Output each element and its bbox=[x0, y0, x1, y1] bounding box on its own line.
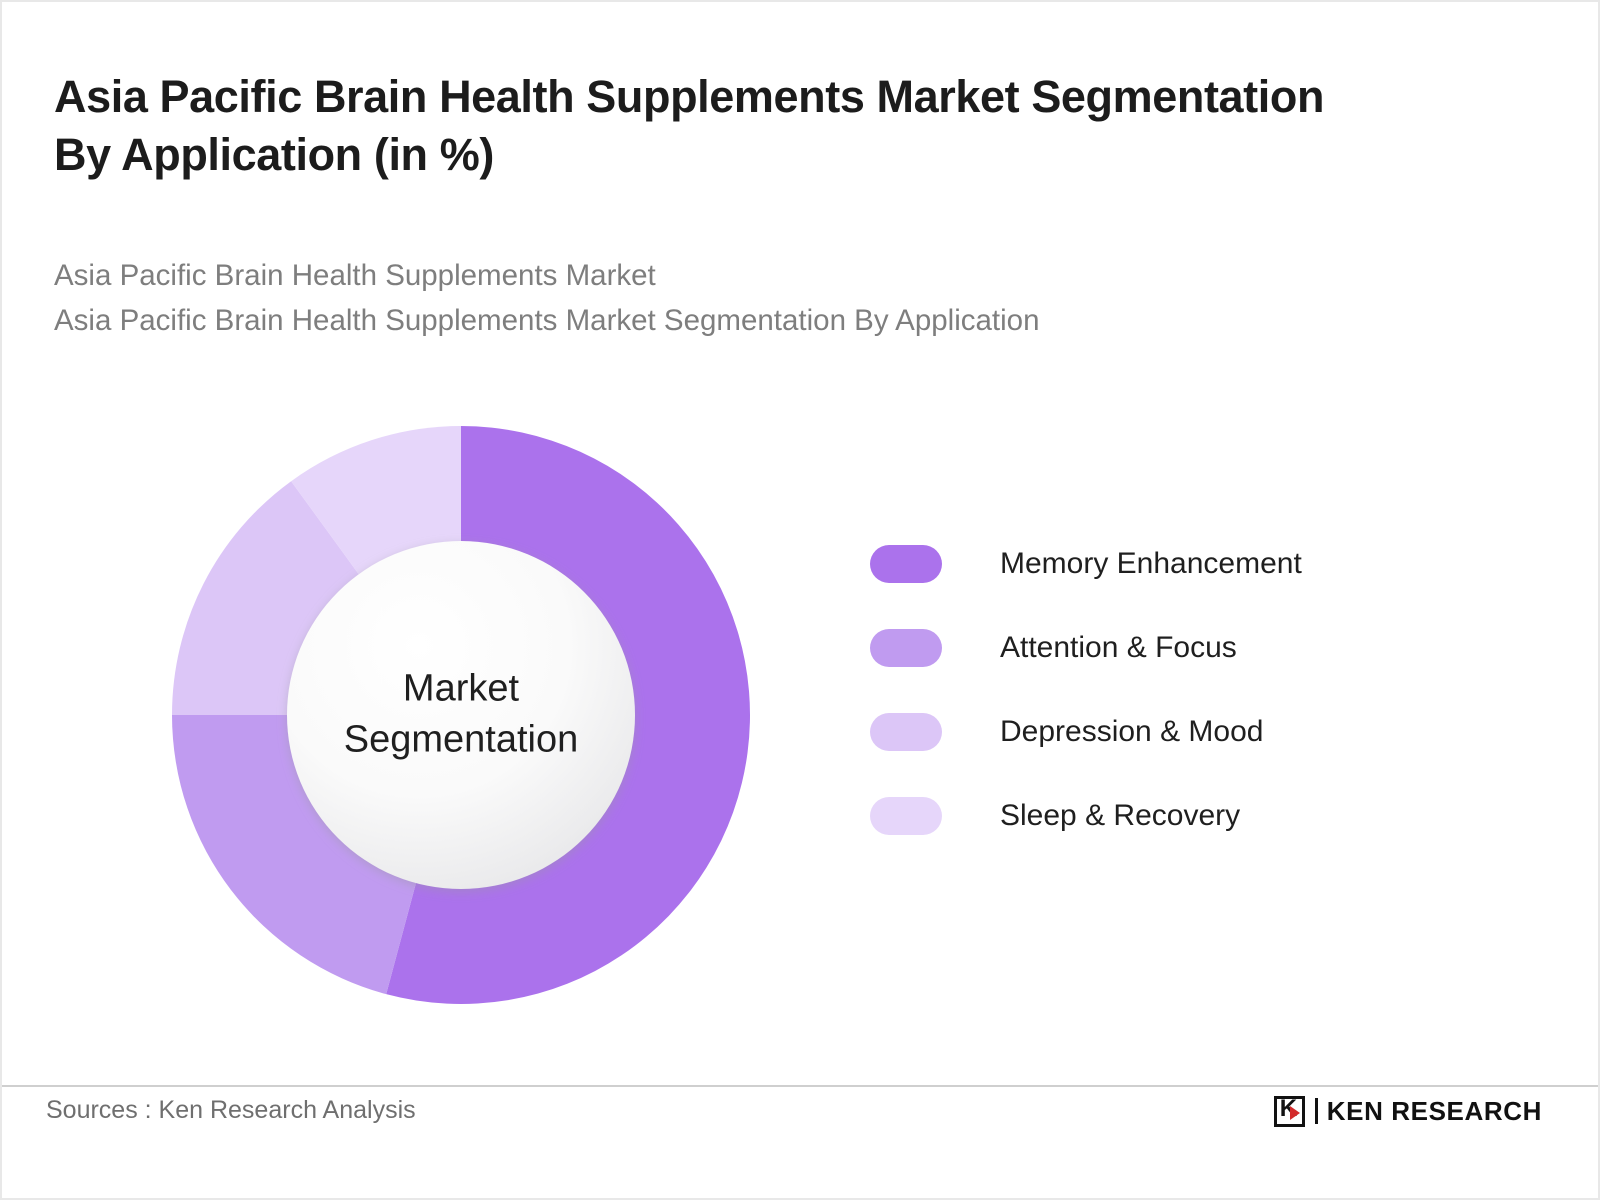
page-subtitle: Asia Pacific Brain Health Supplements Ma… bbox=[54, 254, 1504, 344]
sources-text: Sources : Ken Research Analysis bbox=[46, 1096, 416, 1125]
legend-item[interactable]: Attention & Focus bbox=[870, 606, 1302, 690]
logo-wordmark: KEN RESEARCH bbox=[1327, 1096, 1542, 1127]
logo-triangle-icon bbox=[1290, 1106, 1300, 1120]
chart-legend: Memory EnhancementAttention & FocusDepre… bbox=[870, 522, 1302, 858]
donut-hole bbox=[287, 541, 635, 889]
page-title: Asia Pacific Brain Health Supplements Ma… bbox=[54, 68, 1534, 183]
chart-area: Market Segmentation Memory EnhancementAt… bbox=[2, 382, 1600, 1062]
legend-item[interactable]: Sleep & Recovery bbox=[870, 774, 1302, 858]
legend-item[interactable]: Memory Enhancement bbox=[870, 522, 1302, 606]
logo-divider bbox=[1315, 1098, 1318, 1124]
legend-swatch-icon bbox=[870, 713, 942, 751]
legend-swatch-icon bbox=[870, 545, 942, 583]
legend-label: Memory Enhancement bbox=[1000, 547, 1302, 581]
footer-divider bbox=[2, 1085, 1598, 1087]
legend-label: Sleep & Recovery bbox=[1000, 799, 1240, 833]
donut-svg bbox=[172, 426, 750, 1004]
donut-chart: Market Segmentation bbox=[172, 426, 750, 1004]
ken-research-logo: K KEN RESEARCH bbox=[1274, 1094, 1542, 1128]
legend-swatch-icon bbox=[870, 629, 942, 667]
logo-mark-icon: K bbox=[1274, 1096, 1305, 1127]
legend-label: Attention & Focus bbox=[1000, 631, 1237, 665]
legend-item[interactable]: Depression & Mood bbox=[870, 690, 1302, 774]
slide-canvas: Asia Pacific Brain Health Supplements Ma… bbox=[0, 0, 1600, 1200]
legend-label: Depression & Mood bbox=[1000, 715, 1263, 749]
legend-swatch-icon bbox=[870, 797, 942, 835]
